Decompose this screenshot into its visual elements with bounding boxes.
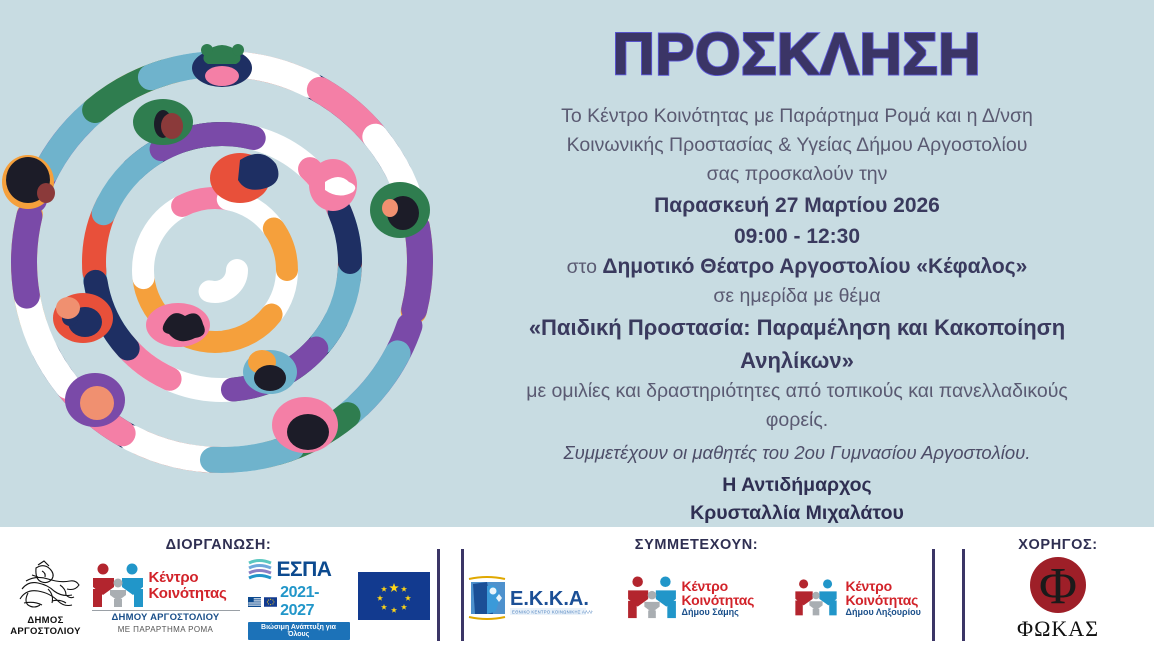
kentro-koinotitas-lixouriou-logo: Κέντρο Κοινότητας Δήμου Ληξουρίου	[791, 579, 931, 618]
page-title-text: ΠΡΟΣΚΛΗΣΗ	[613, 22, 982, 87]
organizers-section: ΔΙΟΡΓΑΝΩΣΗ:	[0, 527, 437, 645]
participants-heading: ΣΥΜΜΕΤΕΧΟΥΝ:	[461, 537, 932, 553]
event-date: Παρασκευή 27 Μαρτίου 2026	[654, 190, 940, 221]
dimos-argostoliou-line-1: ΔΗΜΟΣ	[8, 615, 84, 626]
kk-argostoliou-subtitle: ΜΕ ΠΑΡΑΡΤΗΜΑ ΡΟΜΑ	[92, 625, 240, 634]
invitation-poster: ΠΡΟΣΚΛΗΣΗ ΠΡΟΣΚΛΗΣΗ Το Κέντρο Κοινότητας…	[0, 0, 1154, 645]
espa-title: ΕΣΠΑ	[277, 559, 332, 581]
kk-lixouriou-title-1: Κέντρο	[846, 579, 921, 594]
subject-line-1: «Παιδική Προστασία: Παραμέληση και Κακοπ…	[529, 311, 1065, 344]
organizers-heading: ΔΙΟΡΓΑΝΩΣΗ:	[0, 537, 437, 553]
subject-prefix: σε ημερίδα με θέμα	[713, 282, 880, 311]
event-time: 09:00 - 12:30	[734, 221, 860, 252]
venue-prefix: στο	[567, 256, 603, 278]
invitation-text-block: ΠΡΟΣΚΛΗΣΗ ΠΡΟΣΚΛΗΣΗ Το Κέντρο Κοινότητας…	[440, 0, 1154, 527]
intro-line-2: Κοινωνικής Προστασίας & Υγείας Δήμου Αργ…	[567, 131, 1028, 160]
subject-line-2: Ανηλίκων»	[740, 344, 854, 377]
page-title: ΠΡΟΣΚΛΗΣΗ ΠΡΟΣΚΛΗΣΗ	[613, 26, 982, 84]
footer-divider-1	[437, 549, 440, 641]
venue-name: Δημοτικό Θέατρο Αργοστολίου «Κέφαλος»	[602, 255, 1027, 278]
kentro-koinotitas-samis-logo: Κέντρο Κοινότητας Δήμου Σάμης	[627, 576, 757, 620]
espa-logo: ΕΣΠΑ 2021-2027 Βιώ	[248, 557, 350, 640]
fokas-logo: Φ ΦΩΚΑΣ	[1017, 555, 1099, 642]
espa-tagline: Βιώσιμη Ανάπτυξη για Όλους	[248, 622, 350, 640]
detail-line-2: φορείς.	[766, 406, 828, 435]
sponsor-heading: ΧΟΡΗΓΟΣ:	[962, 537, 1154, 553]
kk-samis-title-3: Δήμου Σάμης	[682, 608, 755, 617]
intro-line-1: Το Κέντρο Κοινότητας με Παράρτημα Ρομά κ…	[561, 102, 1033, 131]
footer-logos-bar: ΔΙΟΡΓΑΝΩΣΗ:	[0, 527, 1154, 645]
dimos-argostoliou-line-2: ΑΡΓΟΣΤΟΛΙΟΥ	[8, 626, 84, 637]
people-holding-hands-spiral-illustration	[0, 0, 440, 527]
participants-section: ΣΥΜΜΕΤΕΧΟΥΝ: E.K.K.A. ΕΘΝΙΚΟ ΚΕΝΤΡΟ	[461, 527, 932, 645]
ekka-subtitle-text: ΕΘΝΙΚΟ ΚΕΝΤΡΟ ΚΟΙΝΩΝΙΚΗΣ ΑΛΛΗΛΕΓΓΥΗΣ	[512, 610, 593, 615]
school-participants-note: Συμμετέχουν οι μαθητές του 2ου Γυμνασίου…	[564, 438, 1031, 467]
fokas-label: ΦΩΚΑΣ	[1017, 616, 1099, 642]
dimos-argostoliou-logo: ΔΗΜΟΣ ΑΡΓΟΣΤΟΛΙΟΥ	[8, 559, 84, 637]
intro-line-3: σας προσκαλούν την	[707, 160, 888, 189]
detail-line-1: με ομιλίες και δραστηριότητες από τοπικο…	[526, 377, 1068, 406]
ekka-title-text: E.K.K.A.	[510, 588, 589, 610]
signature-role: Η Αντιδήμαρχος	[722, 471, 871, 499]
ekka-logo: E.K.K.A. ΕΘΝΙΚΟ ΚΕΝΤΡΟ ΚΟΙΝΩΝΙΚΗΣ ΑΛΛΗΛΕ…	[463, 573, 593, 623]
kk-samis-title-1: Κέντρο	[682, 579, 755, 594]
kk-lixouriou-title-2: Κοινότητας	[846, 593, 921, 608]
espa-years: 2021-2027	[280, 584, 349, 620]
kk-argostoliou-title-1: Κέντρο	[149, 570, 227, 586]
kk-argostoliou-title-2: Κοινότητας	[149, 586, 227, 602]
footer-divider-3	[932, 549, 935, 641]
kk-samis-title-2: Κοινότητας	[682, 593, 755, 608]
kk-lixouriou-title-3: Δήμου Ληξουρίου	[846, 608, 921, 617]
european-union-flag	[358, 572, 430, 625]
fokas-glyph: Φ	[1039, 558, 1077, 615]
signature-name: Κρυσταλλία Μιχαλάτου	[690, 499, 904, 527]
event-venue-line: στο Δημοτικό Θέατρο Αργοστολίου «Κέφαλος…	[567, 252, 1028, 282]
kk-argostoliou-title-3: ΔΗΜΟΥ ΑΡΓΟΣΤΟΛΙΟΥ	[92, 610, 240, 623]
kentro-koinotitas-argostoliou-logo: Κέντρο Κοινότητας ΔΗΜΟΥ ΑΡΓΟΣΤΟΛΙΟΥ ΜΕ Π…	[92, 563, 240, 634]
sponsor-section: ΧΟΡΗΓΟΣ: Φ ΦΩΚΑΣ	[962, 527, 1154, 645]
